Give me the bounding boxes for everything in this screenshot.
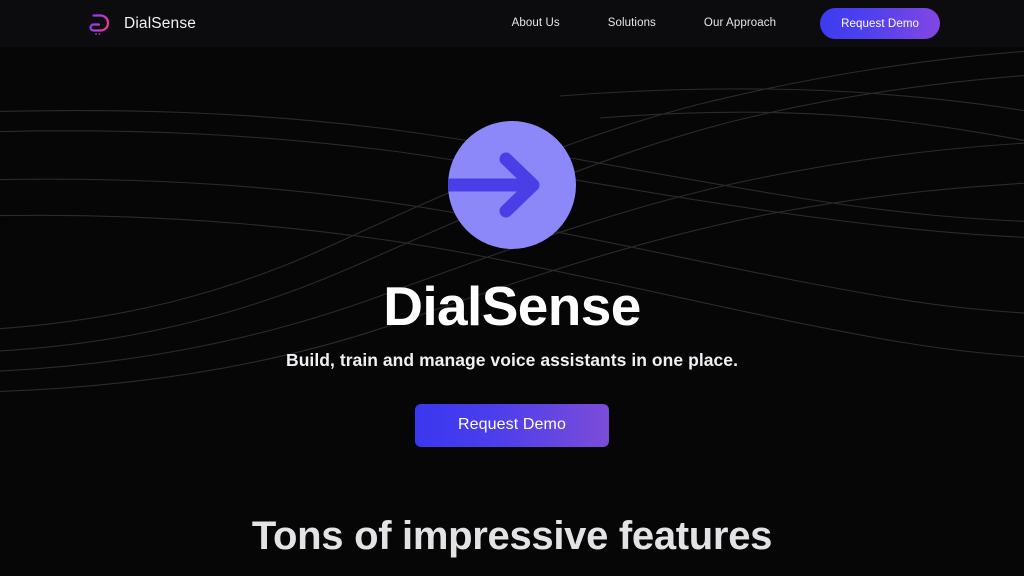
brand-name: DialSense xyxy=(124,16,196,32)
hero-subtitle: Build, train and manage voice assistants… xyxy=(286,350,738,371)
main-navigation: About Us Solutions Our Approach Request … xyxy=(488,8,940,39)
hero-title: DialSense xyxy=(383,278,641,336)
nav-item-about-us[interactable]: About Us xyxy=(488,18,584,30)
hero-badge xyxy=(448,121,576,249)
header-request-demo-button[interactable]: Request Demo xyxy=(820,8,940,39)
hero-request-demo-button[interactable]: Request Demo xyxy=(415,404,609,447)
features-section: Tons of impressive features xyxy=(0,512,1024,560)
brand-logo[interactable]: DialSense xyxy=(84,9,196,39)
nav-item-solutions[interactable]: Solutions xyxy=(584,18,680,30)
features-section-title: Tons of impressive features xyxy=(0,512,1024,560)
dialsense-logo-icon xyxy=(84,9,114,39)
nav-item-our-approach[interactable]: Our Approach xyxy=(680,18,800,30)
hero-section: DialSense Build, train and manage voice … xyxy=(0,47,1024,447)
arrow-right-icon xyxy=(448,121,576,249)
site-header: DialSense About Us Solutions Our Approac… xyxy=(0,0,1024,47)
